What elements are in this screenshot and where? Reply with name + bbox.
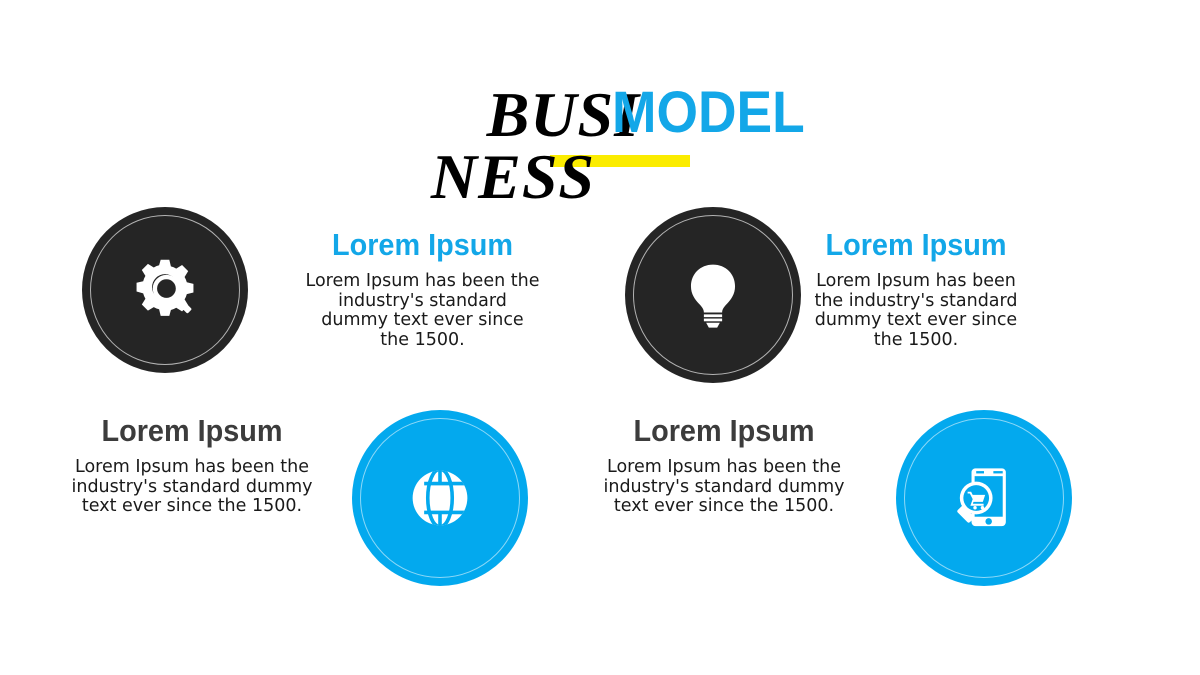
globe-icon [404, 462, 476, 534]
text-block-lightbulb: Lorem Ipsum Lorem Ipsum has been the ind… [805, 228, 1027, 350]
icon-circle-gear-search[interactable] [82, 207, 248, 373]
block-body: Lorem Ipsum has been the industry's stan… [805, 272, 1027, 350]
title-line-2: NESS [380, 144, 595, 210]
text-block-mobile-search: Lorem Ipsum Lorem Ipsum has been the ind… [600, 414, 848, 517]
gear-magnifier-icon [129, 254, 201, 326]
business-model-slide: BUSI MODEL NESS Lorem Ipsum Lorem Ipsum … [0, 0, 1200, 675]
block-heading: Lorem Ipsum [609, 414, 840, 448]
block-body: Lorem Ipsum has been the industry's stan… [68, 458, 316, 517]
block-heading: Lorem Ipsum [313, 228, 532, 262]
icon-circle-globe[interactable] [352, 410, 528, 586]
mobile-cart-search-icon [945, 459, 1023, 537]
block-body: Lorem Ipsum has been the industry's stan… [305, 272, 540, 350]
lightbulb-icon [675, 257, 751, 333]
block-body: Lorem Ipsum has been the industry's stan… [600, 458, 848, 517]
title-line-1: BUSI [380, 82, 640, 148]
title-accent-word: MODEL [612, 84, 805, 142]
block-heading: Lorem Ipsum [813, 228, 1019, 262]
block-heading: Lorem Ipsum [77, 414, 308, 448]
text-block-gear-search: Lorem Ipsum Lorem Ipsum has been the ind… [305, 228, 540, 350]
text-block-globe: Lorem Ipsum Lorem Ipsum has been the ind… [68, 414, 316, 517]
icon-circle-lightbulb[interactable] [625, 207, 801, 383]
icon-circle-mobile-search[interactable] [896, 410, 1072, 586]
